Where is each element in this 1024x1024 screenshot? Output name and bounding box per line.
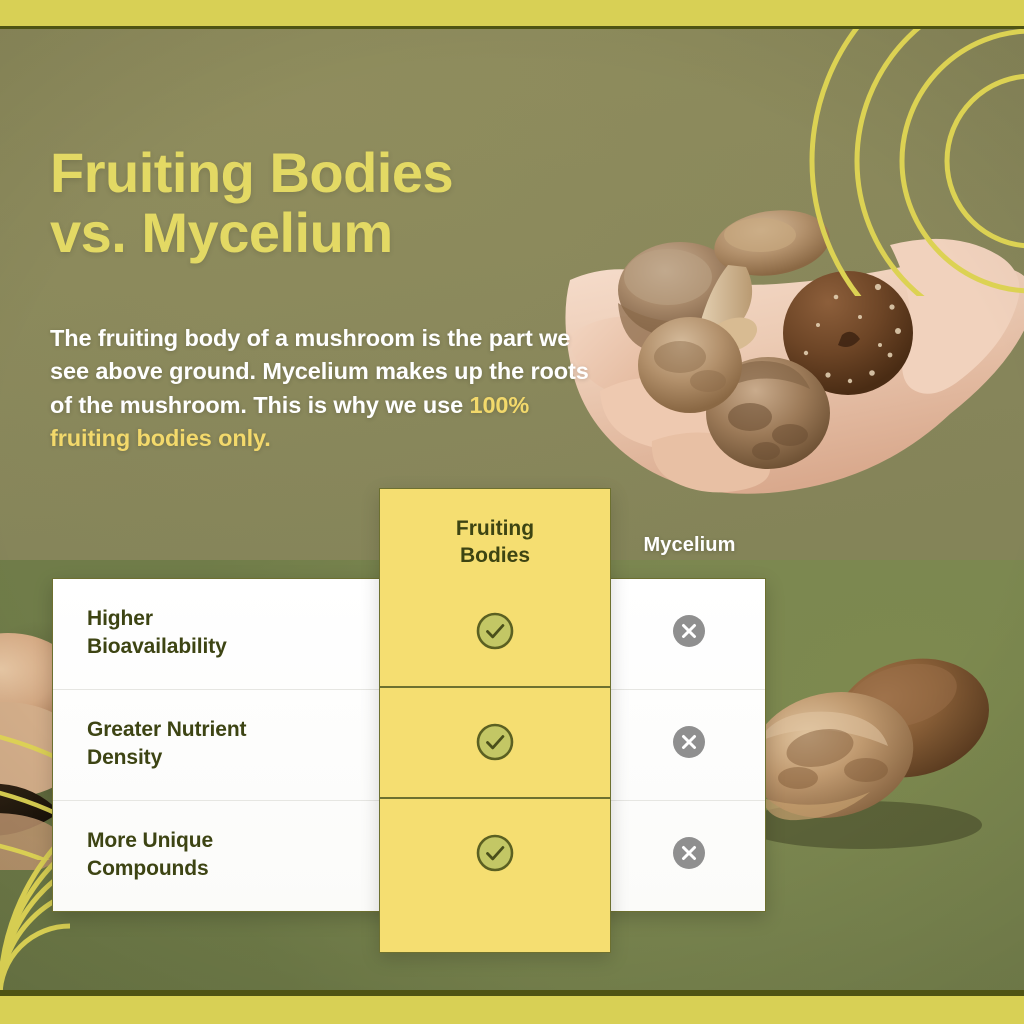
row-label-line-1: Higher bbox=[87, 605, 387, 633]
table-row: Higher Bioavailability bbox=[87, 605, 387, 661]
column-row-divider bbox=[380, 686, 610, 688]
column-row-divider bbox=[380, 797, 610, 799]
column-header-line-1: Fruiting bbox=[380, 515, 610, 542]
table-row: Greater Nutrient Density bbox=[87, 716, 387, 772]
cross-icon bbox=[672, 725, 706, 759]
column-header-line-2: Bodies bbox=[380, 542, 610, 569]
subtitle-paragraph: The fruiting body of a mushroom is the p… bbox=[50, 322, 602, 455]
row-label-line-2: Density bbox=[87, 744, 387, 772]
page-title-line-1: Fruiting Bodies bbox=[50, 143, 650, 203]
cross-icon bbox=[672, 836, 706, 870]
row-label-line-2: Bioavailability bbox=[87, 633, 387, 661]
row-label-line-2: Compounds bbox=[87, 855, 387, 883]
page-title: Fruiting Bodies vs. Mycelium bbox=[50, 143, 650, 264]
row-label-line-1: Greater Nutrient bbox=[87, 716, 387, 744]
infographic-canvas: Fruiting Bodies vs. Mycelium The fruitin… bbox=[0, 0, 1024, 1024]
top-accent-bar bbox=[0, 0, 1024, 29]
check-icon bbox=[475, 722, 515, 762]
page-title-line-2: vs. Mycelium bbox=[50, 203, 650, 263]
cross-icon bbox=[672, 614, 706, 648]
column-header-mycelium: Mycelium bbox=[612, 534, 767, 557]
column-fruiting-bodies: Fruiting Bodies bbox=[379, 488, 611, 953]
check-icon bbox=[475, 611, 515, 651]
check-icon bbox=[475, 833, 515, 873]
column-header-fruiting-bodies: Fruiting Bodies bbox=[380, 515, 610, 570]
bottom-accent-bar bbox=[0, 990, 1024, 1024]
table-row: More Unique Compounds bbox=[87, 827, 387, 883]
row-label-line-1: More Unique bbox=[87, 827, 387, 855]
